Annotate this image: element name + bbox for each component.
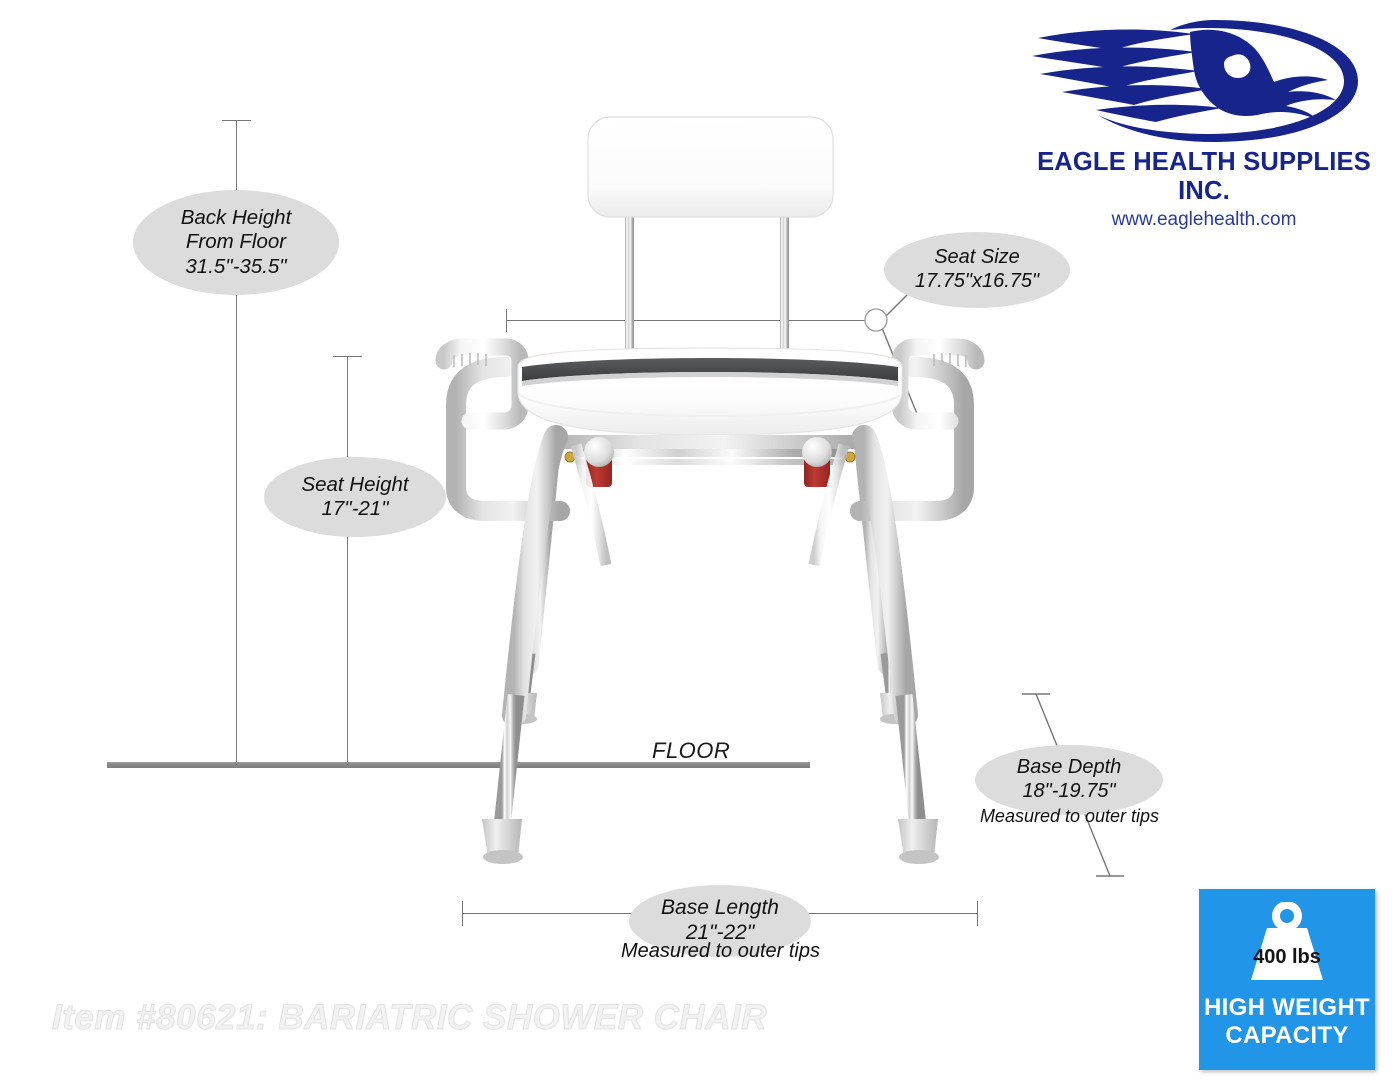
base-depth-line1: Base Depth [1017, 756, 1122, 780]
weight-text-line1: HIGH WEIGHT [1204, 994, 1370, 1022]
eagle-head-logo-icon [1018, 12, 1390, 152]
back-height-line3: 31.5"-35.5" [185, 255, 286, 279]
back-height-line2: From Floor [186, 230, 286, 254]
seat-height-dimension-line [347, 356, 348, 765]
weight-capacity-badge: 400 lbs HIGH WEIGHT CAPACITY [1199, 889, 1375, 1070]
brand-website: www.eaglehealth.com [1018, 209, 1390, 231]
weight-value: 400 lbs [1239, 946, 1335, 969]
callout-seat-height: Seat Height 17"-21" [264, 457, 446, 537]
callout-base-depth: Base Depth 18"-19.75" [975, 745, 1163, 815]
shower-chair-illustration [410, 105, 1010, 885]
seat-height-line2: 17"-21" [322, 497, 389, 521]
base-length-line1: Base Length [661, 896, 779, 921]
back-height-line1: Back Height [181, 206, 292, 230]
callout-seat-size: Seat Size 17.75"x16.75" [884, 232, 1070, 308]
product-spec-diagram: EAGLE HEALTH SUPPLIES INC. www.eagleheal… [0, 0, 1400, 1082]
base-length-note: Measured to outer tips [598, 940, 843, 963]
seat-height-top-tick [333, 356, 362, 357]
seat-height-line1: Seat Height [301, 473, 408, 497]
weight-capacity-text: HIGH WEIGHT CAPACITY [1204, 994, 1370, 1051]
base-length-left-tick [462, 901, 463, 926]
base-depth-line2: 18"-19.75" [1022, 780, 1115, 804]
base-depth-note: Measured to outer tips [947, 806, 1192, 827]
base-length-right-tick [977, 901, 978, 926]
weight-text-line2: CAPACITY [1204, 1022, 1370, 1050]
item-title: Item #80621: BARIATRIC SHOWER CHAIR [52, 998, 767, 1038]
back-height-top-tick [222, 120, 251, 121]
brand-logo: EAGLE HEALTH SUPPLIES INC. www.eagleheal… [1018, 12, 1390, 224]
callout-back-height: Back Height From Floor 31.5"-35.5" [133, 190, 339, 295]
weight-icon: 400 lbs [1239, 902, 1335, 986]
seat-size-line2: 17.75"x16.75" [915, 270, 1039, 294]
seat-size-line1: Seat Size [934, 246, 1020, 270]
brand-name: EAGLE HEALTH SUPPLIES INC. [1018, 148, 1390, 206]
